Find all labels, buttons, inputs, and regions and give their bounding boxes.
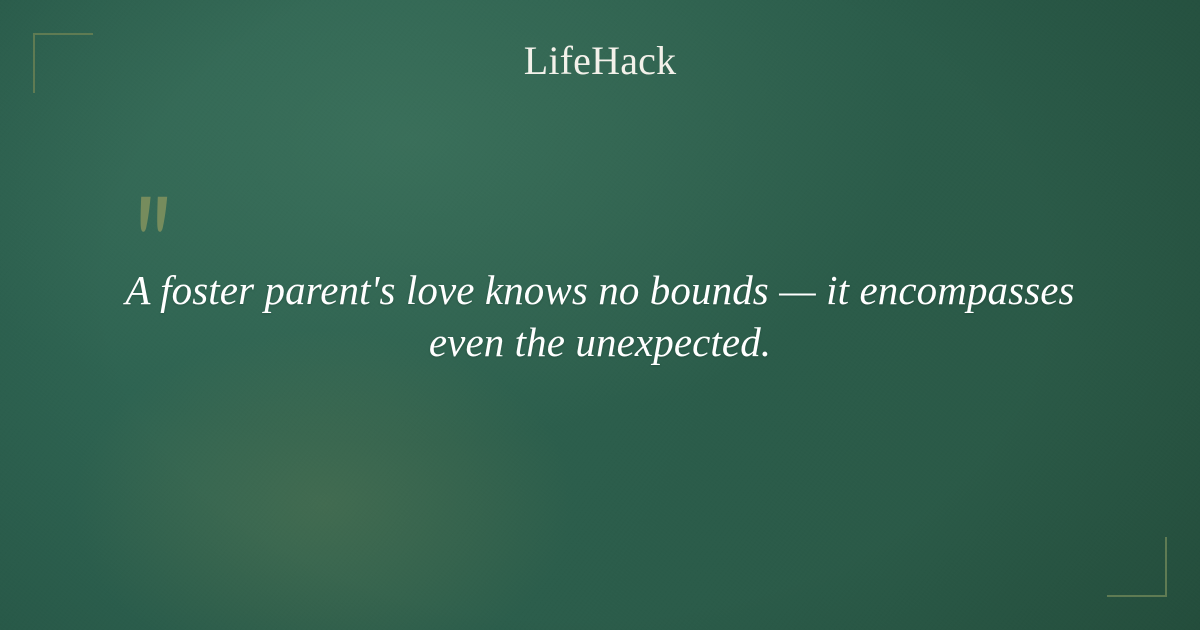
brand-logo: LifeHack (0, 38, 1200, 84)
corner-bracket-bottom-right-icon (1107, 537, 1167, 597)
double-quote-icon (138, 196, 1080, 242)
quote-text: A foster parent's love knows no bounds —… (120, 264, 1080, 368)
quote-card: LifeHack A foster parent's love knows no… (0, 0, 1200, 630)
quote-block: A foster parent's love knows no bounds —… (120, 196, 1080, 368)
